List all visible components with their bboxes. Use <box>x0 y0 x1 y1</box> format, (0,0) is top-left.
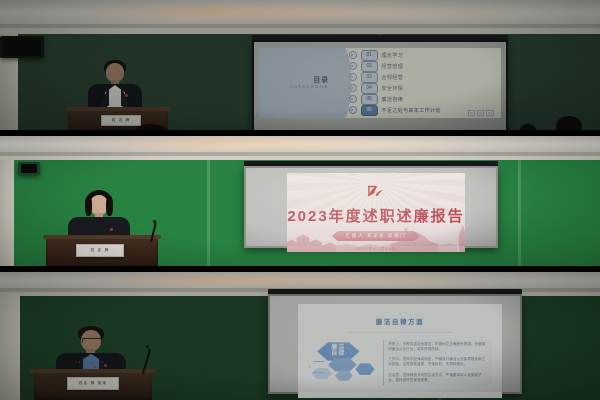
party-emblem-icon <box>365 183 387 199</box>
slide-title-text: 2023年度述职述廉报告 <box>287 205 464 226</box>
board-frame-edge <box>518 160 521 270</box>
lapel-pin-icon <box>110 228 113 231</box>
photo-panel-middle: 2023年度述职述廉报告 汇报人:某某某 某部门 2023年12月31日 <box>0 134 600 270</box>
name-card-label: 姓名 牌 某某 <box>79 381 107 386</box>
hexagon-primary-label: 廉洁 自律 <box>317 342 359 360</box>
catalogue-item-label: 经营管理 <box>382 63 404 70</box>
name-card-top: 姓 名 牌 <box>101 115 141 126</box>
slide-heading: 廉洁自律方面 <box>308 316 493 326</box>
catalogue-heading-panel: 目录 CATALOGUE <box>259 48 344 118</box>
bullet-dot-icon <box>349 73 357 81</box>
content-card: 工作中，坚持守纪律讲规矩，严格执行廉洁从业各项规定和工作制度，自觉接受监督，不谋… <box>383 355 492 370</box>
page-mark: 03 <box>486 110 493 116</box>
catalogue-item-label: 不足之处与来年工作计划 <box>382 107 441 114</box>
screen-bezel: 廉洁自律方面 廉洁 自律 <box>268 294 522 394</box>
name-card-bottom: 姓名 牌 某某 <box>67 377 119 390</box>
catalogue-item-number: 01 <box>361 50 378 61</box>
page-mark: 02 <box>477 110 484 116</box>
catalogue-item-number: 03 <box>361 72 378 83</box>
catalogue-item-label: 理论学习 <box>382 52 404 59</box>
screen-mat: 目录 CATALOGUE 01 理论学习 <box>254 42 506 130</box>
heading-underline <box>348 332 452 333</box>
room-scene-top: 目录 CATALOGUE 01 理论学习 <box>0 0 600 134</box>
bullet-dot-icon <box>349 51 357 59</box>
room-scene-bottom: 廉洁自律方面 廉洁 自律 <box>0 270 600 400</box>
catalogue-heading-en: CATALOGUE <box>290 85 330 89</box>
content-card: 思想上，不断加强自身建设，牢固树立正确的世界观、价值观和廉洁从业行为，筑牢思想防… <box>383 340 492 355</box>
screen-bezel: 目录 CATALOGUE 01 理论学习 <box>252 40 508 132</box>
catalogue-item: 04 安全环保 <box>349 83 501 94</box>
bullet-dot-icon <box>349 106 357 114</box>
ceiling-light-glow <box>72 139 564 148</box>
name-card-label: 姓 名 牌 <box>112 118 131 123</box>
catalogue-item-label: 廉洁自律 <box>382 96 404 103</box>
bullet-dot-icon <box>349 95 357 103</box>
content-card-list: 思想上，不断加强自身建设，牢固树立正确的世界观、价值观和廉洁从业行为，筑牢思想防… <box>376 340 493 386</box>
bullet-dot-icon <box>349 84 357 92</box>
content-card: 生活里，坚持勤俭节约的生活方式，严格要求本人及家属子女，保持良好的家风家教。 <box>383 370 492 385</box>
catalogue-item: 01 理论学习 <box>349 50 501 61</box>
catalogue-item: 02 经营管理 <box>349 61 501 72</box>
slide-title: 2023年度述职述廉报告 汇报人:某某某 某部门 2023年12月31日 <box>287 173 464 253</box>
ceiling-top <box>0 0 600 28</box>
presenter-hair-side <box>85 196 92 216</box>
presenter-hair-side <box>106 196 113 216</box>
hexagon-decoration <box>355 363 374 375</box>
photo-panel-bottom: 廉洁自律方面 廉洁 自律 <box>0 270 600 400</box>
panel-divider <box>0 130 600 136</box>
ceiling-light-glow <box>72 6 564 18</box>
catalogue-item-label: 合规经营 <box>382 74 404 81</box>
ceiling-light-glow <box>72 275 564 284</box>
projection-screen-top: 目录 CATALOGUE 01 理论学习 <box>252 40 508 132</box>
wall-speaker-icon <box>18 162 40 175</box>
catalogue-item: 03 合规经营 <box>349 72 501 83</box>
photo-collage: 目录 CATALOGUE 01 理论学习 <box>0 0 600 400</box>
catalogue-item-number: 04 <box>361 83 378 94</box>
photo-panel-top: 目录 CATALOGUE 01 理论学习 <box>0 0 600 134</box>
screen-mat: 廉洁自律方面 廉洁 自律 <box>270 296 520 392</box>
podium-ledge <box>43 235 162 239</box>
catalogue-item-number: 06 <box>361 105 378 116</box>
slide-catalogue: 目录 CATALOGUE 01 理论学习 <box>259 48 501 118</box>
slide-content-hexagon: 廉洁自律方面 廉洁 自律 <box>298 304 503 398</box>
board-frame-edge <box>207 160 210 270</box>
name-card-middle: 姓 名 牌 <box>76 244 124 257</box>
panel-divider <box>0 266 600 272</box>
projection-screen-bottom: 廉洁自律方面 廉洁 自律 <box>268 294 522 394</box>
room-scene-middle: 2023年度述职述廉报告 汇报人:某某某 某部门 2023年12月31日 <box>0 134 600 270</box>
wall-pillar-left-middle <box>0 160 14 270</box>
microphone-head-icon <box>146 345 149 348</box>
lapel-pin-icon <box>104 364 107 367</box>
wall-pillar-left-bottom <box>0 294 20 400</box>
catalogue-item: 05 廉洁自律 <box>349 94 501 105</box>
catalogue-item-number: 02 <box>361 61 378 72</box>
podium-bottom: 姓名 牌 某某 <box>34 372 152 400</box>
screen-bezel: 2023年度述职述廉报告 汇报人:某某某 某部门 2023年12月31日 <box>244 166 498 248</box>
ceiling-middle <box>0 134 600 156</box>
catalogue-item-label: 安全环保 <box>382 85 404 92</box>
screen-mat: 2023年度述职述廉报告 汇报人:某某某 某部门 2023年12月31日 <box>246 168 496 246</box>
wall-speaker-icon <box>0 36 44 58</box>
skyline-illustration <box>287 225 464 252</box>
catalogue-item-list: 01 理论学习 02 经营管理 03 <box>344 48 501 118</box>
page-mark: 01 <box>468 110 475 116</box>
hexagon-cluster: 廉洁 自律 <box>308 340 376 386</box>
projection-screen-middle: 2023年度述职述廉报告 汇报人:某某某 某部门 2023年12月31日 <box>244 166 498 248</box>
catalogue-heading-cn: 目录 <box>313 77 329 84</box>
eyeglasses-icon <box>82 338 102 343</box>
podium-ledge <box>65 107 171 111</box>
podium-ledge <box>30 369 155 373</box>
name-card-label: 姓 名 牌 <box>91 248 110 253</box>
catalogue-item-number: 05 <box>361 94 378 105</box>
slide-body: 廉洁 自律 思想上，不断加强自身建设，牢固树立正确的世界观、价值观和廉洁从业行为… <box>308 340 493 386</box>
catalogue-page-marks: 01 02 03 <box>468 110 494 116</box>
microphone-head-icon <box>153 220 156 223</box>
lapel-pin-icon <box>125 94 128 97</box>
bullet-dot-icon <box>349 62 357 70</box>
hexagon-decoration <box>335 371 353 381</box>
